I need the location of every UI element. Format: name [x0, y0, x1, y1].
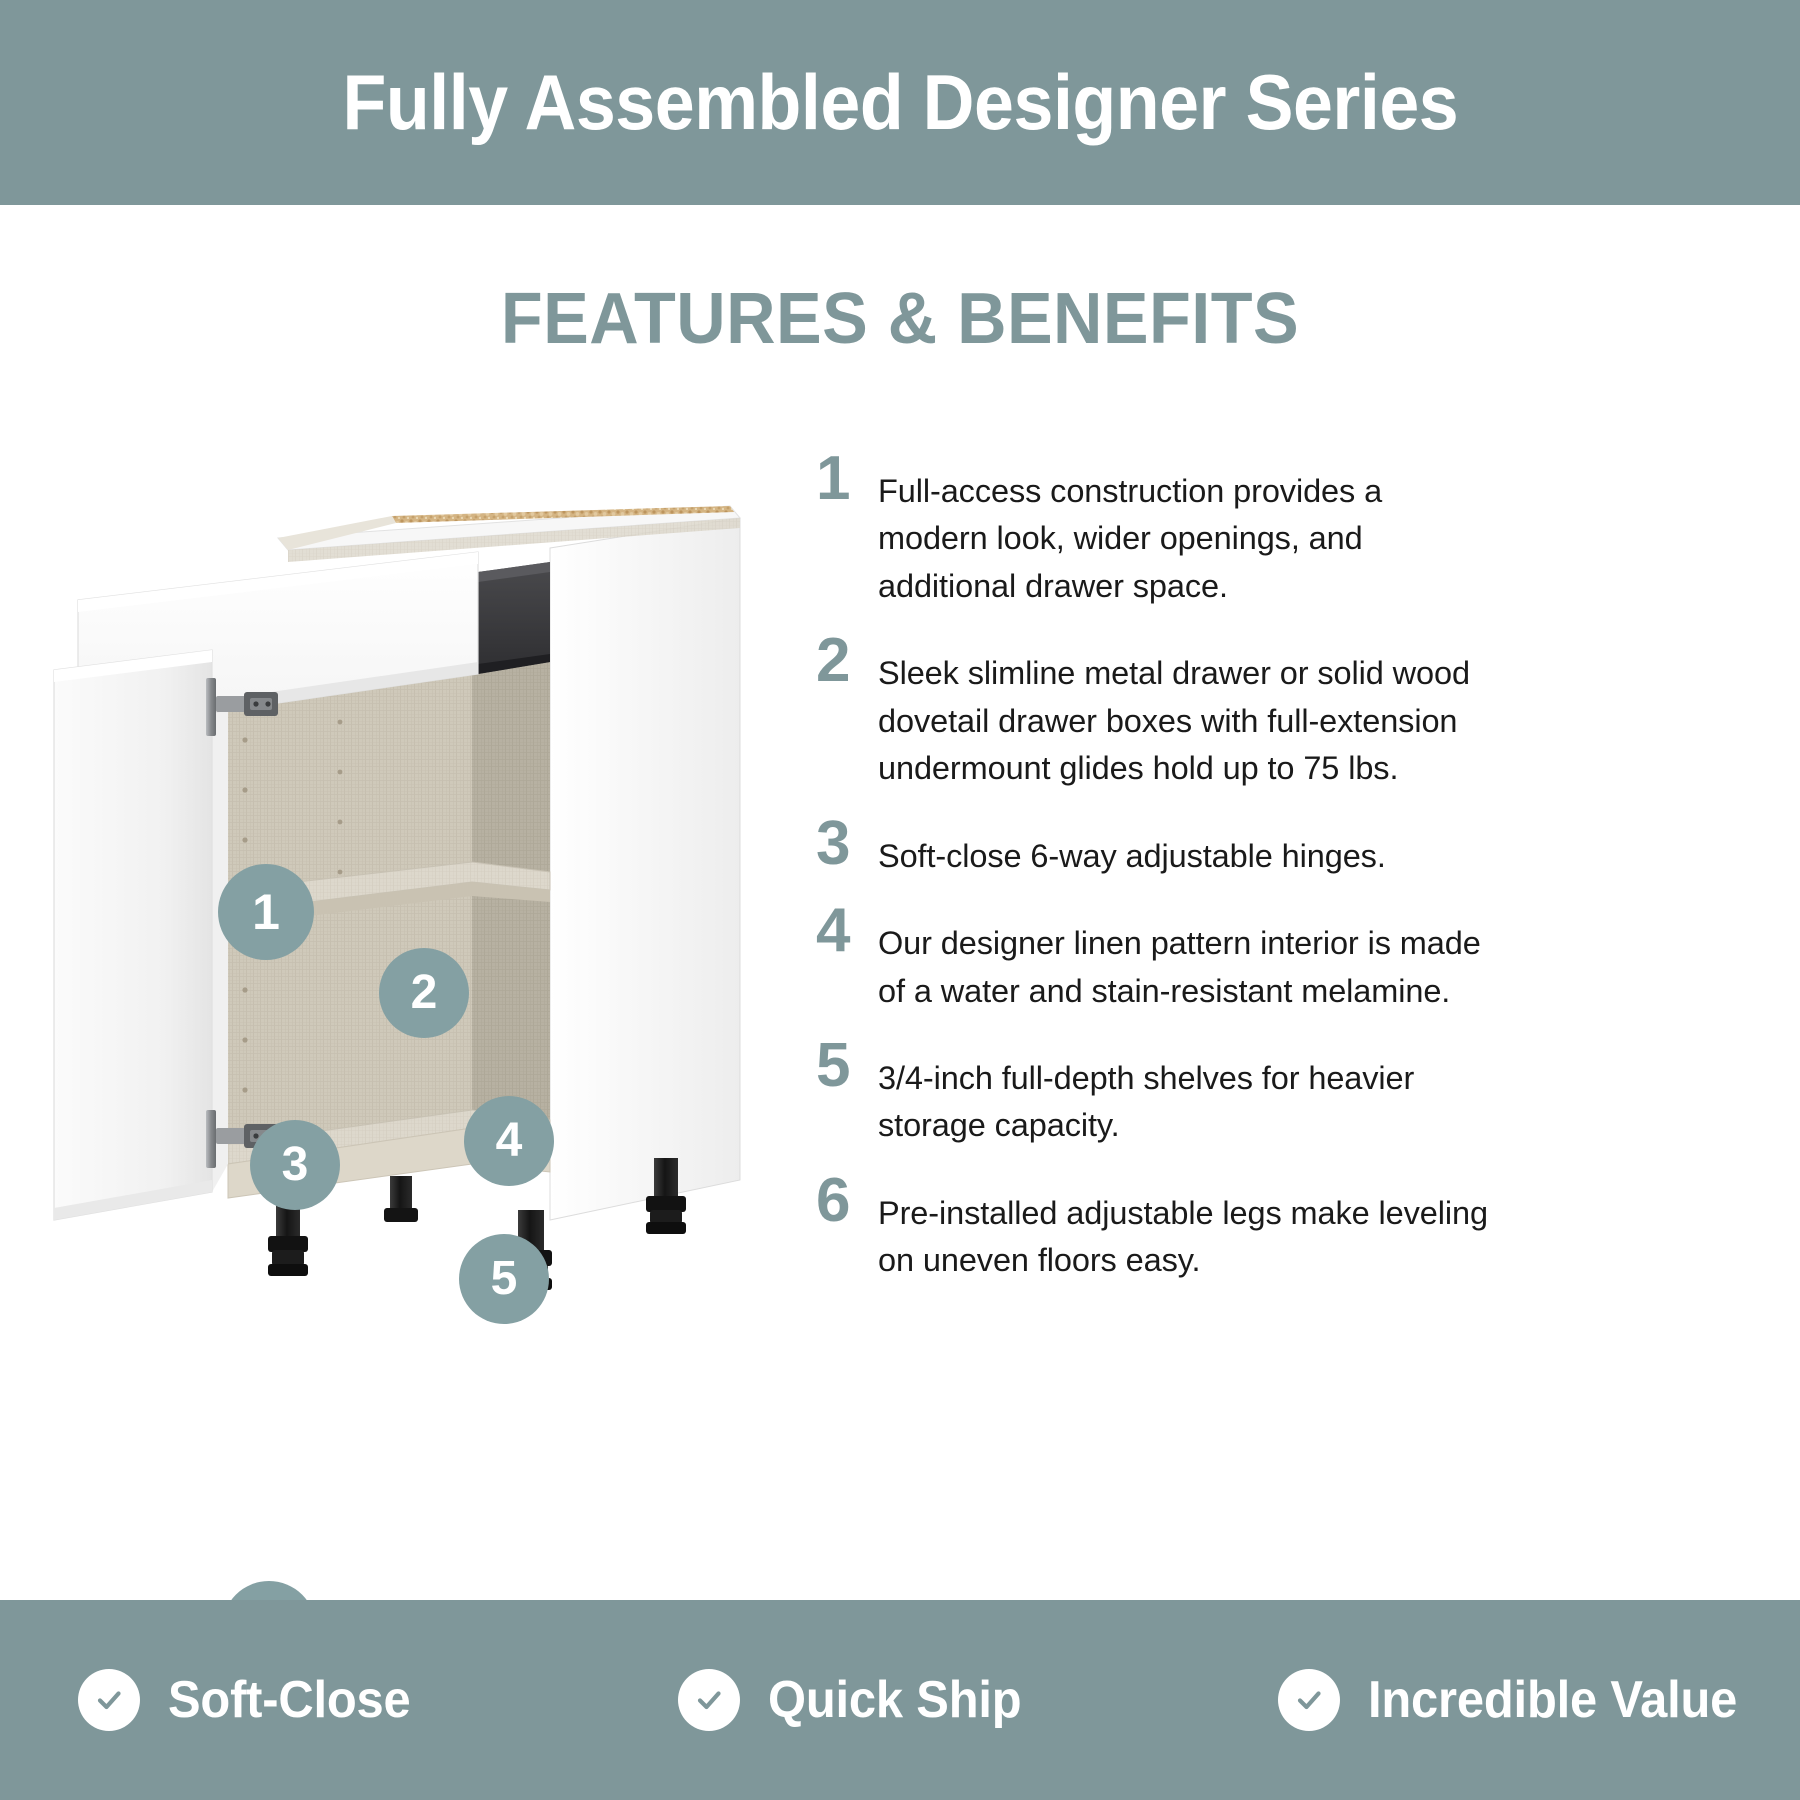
feature-item-5: 5 3/4-inch full-depth shelves for heavie… — [800, 1037, 1500, 1150]
footer-item-quick-ship: Quick Ship — [600, 1669, 1200, 1731]
base-cabinet-drawing — [40, 420, 820, 1420]
feature-item-6: 6 Pre-installed adjustable legs make lev… — [800, 1172, 1500, 1285]
metal-drawer-box — [478, 562, 550, 674]
cabinet-right-side — [550, 518, 740, 1220]
feature-number-3: 3 — [800, 815, 878, 872]
feature-number-5: 5 — [800, 1037, 878, 1094]
callout-badge-5[interactable]: 5 — [459, 1234, 549, 1324]
footer-label-soft-close: Soft-Close — [168, 1670, 411, 1730]
page-title: Fully Assembled Designer Series — [342, 57, 1458, 148]
footer-band: Soft-Close Quick Ship Incredible Value — [0, 1600, 1800, 1800]
main-content: 1 2 3 4 5 6 1 Full-access construction p… — [0, 400, 1800, 1590]
feature-number-2: 2 — [800, 632, 878, 689]
footer-label-incredible-value: Incredible Value — [1368, 1670, 1737, 1730]
footer-item-soft-close: Soft-Close — [0, 1669, 600, 1731]
check-icon — [1278, 1669, 1340, 1731]
cabinet-door — [54, 650, 212, 1220]
callout-badge-4[interactable]: 4 — [464, 1096, 554, 1186]
callout-badge-1[interactable]: 1 — [218, 864, 314, 960]
header-band: Fully Assembled Designer Series — [0, 0, 1800, 205]
callout-badge-3[interactable]: 3 — [250, 1120, 340, 1210]
feature-text-6: Pre-installed adjustable legs make level… — [878, 1172, 1500, 1285]
feature-item-2: 2 Sleek slimline metal drawer or solid w… — [800, 632, 1500, 792]
feature-number-1: 1 — [800, 450, 878, 507]
feature-number-6: 6 — [800, 1172, 878, 1229]
feature-number-4: 4 — [800, 902, 878, 959]
feature-text-4: Our designer linen pattern interior is m… — [878, 902, 1500, 1015]
check-icon — [78, 1669, 140, 1731]
feature-item-3: 3 Soft-close 6-way adjustable hinges. — [800, 815, 1500, 880]
infographic-page: Fully Assembled Designer Series FEATURES… — [0, 0, 1800, 1800]
footer-item-incredible-value: Incredible Value — [1200, 1669, 1800, 1731]
features-list: 1 Full-access construction provides a mo… — [800, 450, 1500, 1307]
product-illustration: 1 2 3 4 5 6 — [40, 420, 820, 1420]
feature-item-4: 4 Our designer linen pattern interior is… — [800, 902, 1500, 1015]
feature-text-5: 3/4-inch full-depth shelves for heavier … — [878, 1037, 1500, 1150]
section-title: FEATURES & BENEFITS — [45, 278, 1755, 360]
feature-text-2: Sleek slimline metal drawer or solid woo… — [878, 632, 1500, 792]
feature-item-1: 1 Full-access construction provides a mo… — [800, 450, 1500, 610]
feature-text-3: Soft-close 6-way adjustable hinges. — [878, 815, 1500, 880]
callout-badge-2[interactable]: 2 — [379, 948, 469, 1038]
footer-label-quick-ship: Quick Ship — [768, 1670, 1021, 1730]
feature-text-1: Full-access construction provides a mode… — [878, 450, 1500, 610]
check-icon — [678, 1669, 740, 1731]
